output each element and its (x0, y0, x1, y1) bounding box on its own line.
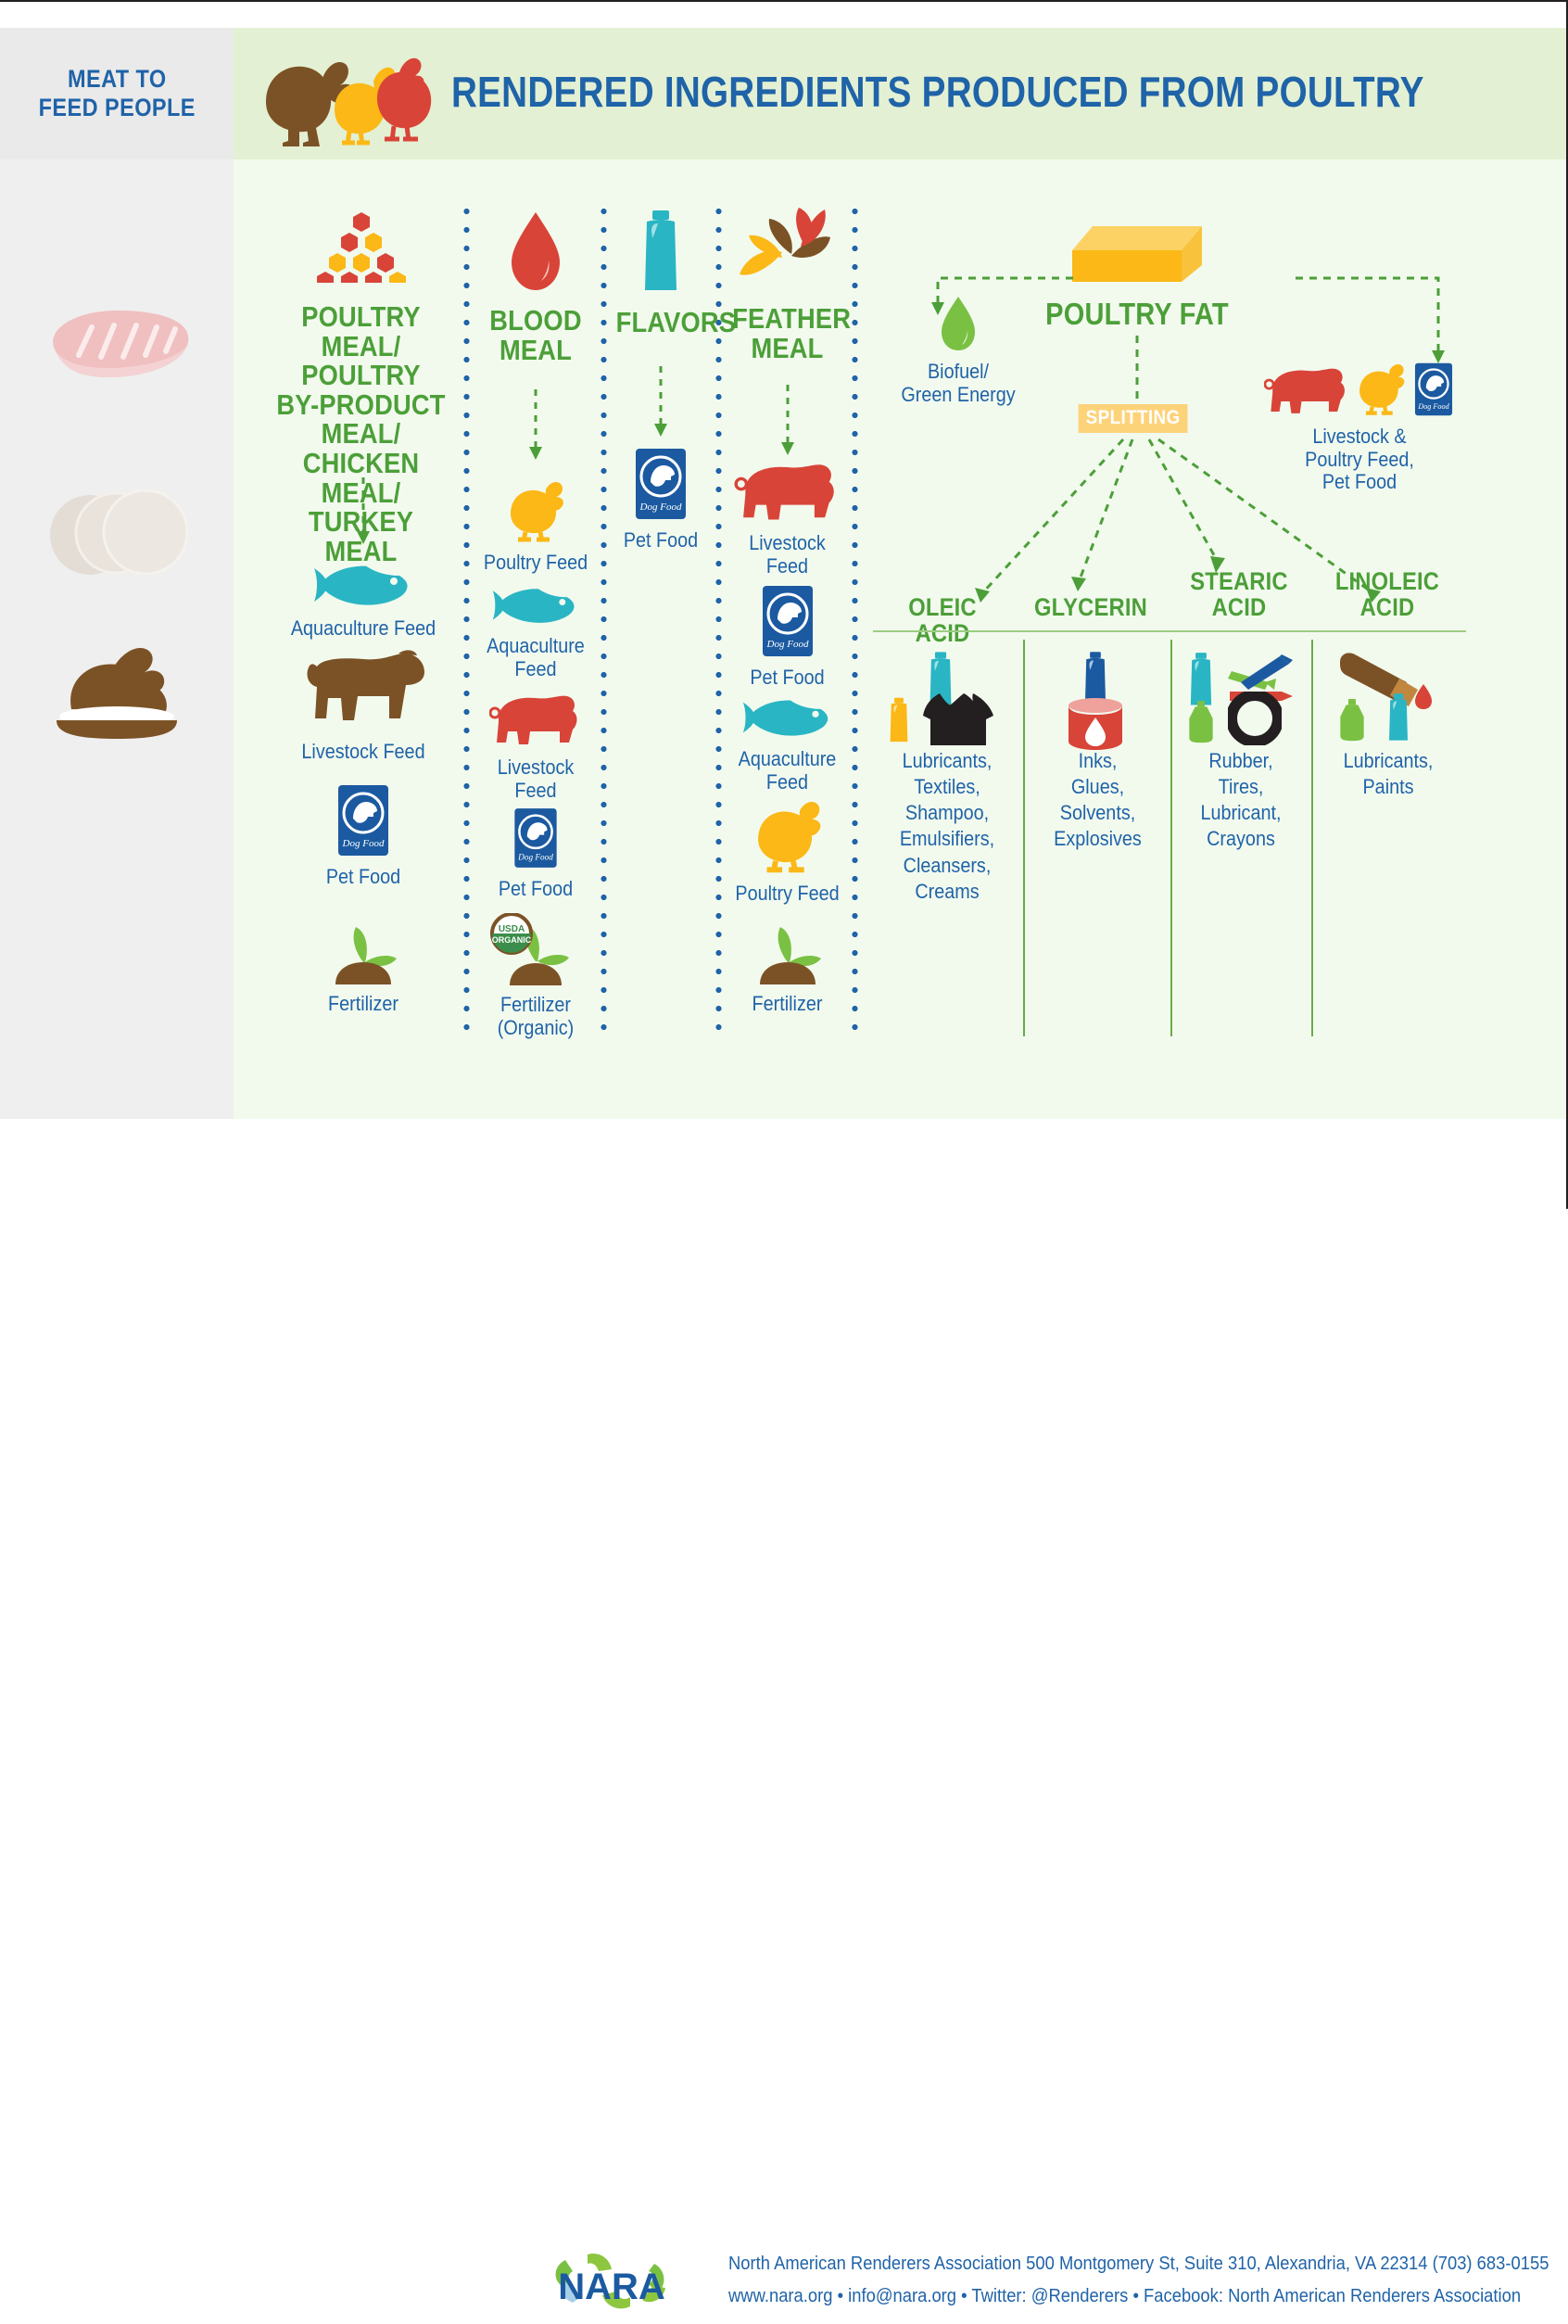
arrow-connector-poultry-meal (335, 477, 391, 552)
seedling-icon (271, 918, 456, 989)
heading-line: ACID (1322, 594, 1453, 620)
node-label: Poultry Feed (731, 883, 844, 906)
feathers-icon (725, 204, 850, 297)
nara-logo: NARA (545, 2245, 684, 2324)
label-text: Aquaculture Feed (731, 748, 844, 794)
product-line: Paints (1321, 774, 1455, 800)
column-divider-2 (601, 202, 607, 1036)
node-label: Livestock Feed (280, 741, 447, 764)
node-label: Livestock Feed (731, 532, 844, 578)
pig-icon (725, 459, 850, 528)
node-fertilizer-1: Fertilizer (271, 918, 456, 1016)
acid-cell-glycerin: Inks, Glues, Solvents, Explosives (1026, 651, 1170, 853)
label-text: Livestock Feed (731, 532, 844, 578)
product-line: Lubricants, (880, 748, 1014, 774)
product-line: Lubricants, (1321, 748, 1455, 774)
node-label: Aquaculture Feed (280, 617, 447, 641)
product-line: Solvents, (1033, 800, 1163, 826)
dog-food-bag-icon: Dog Food (271, 783, 456, 862)
acid-cell-oleic: Lubricants, Textiles, Shampoo, Emulsifie… (873, 651, 1021, 905)
stearic-icons (1172, 651, 1309, 748)
heading-line: ACID (1178, 594, 1300, 620)
textiles-icon (921, 688, 997, 752)
svg-text:USDA: USDA (499, 924, 525, 934)
fish-icon (271, 561, 456, 614)
dog-food-bag-icon: Dog Food (1412, 362, 1455, 422)
chicken-icon (476, 482, 595, 548)
title-line: POULTRY (273, 361, 449, 390)
node-label: Pet Food (280, 866, 447, 889)
svg-text:Dog Food: Dog Food (342, 838, 385, 849)
product-line: Textiles, (880, 774, 1014, 800)
node-label: Aquaculture Feed (731, 748, 844, 794)
header: RENDERED INGREDIENTS PRODUCED FROM POULT… (234, 28, 1568, 159)
seedling-icon (725, 918, 850, 989)
acid-products-stearic: Rubber, Tires, Lubricant, Crayons (1179, 748, 1302, 853)
green-drop-icon (875, 295, 1042, 357)
column-blood-meal: BLOOD MEAL (476, 209, 595, 364)
node-pet-food-2: Dog Food Pet Food (476, 806, 595, 901)
footer: NARA North American Renderers Associatio… (0, 1119, 1568, 1209)
sidebar-title-line2: FEED PEOPLE (38, 94, 195, 122)
acid-heading-oleic: OLEIC ACID (881, 594, 1004, 646)
title-line: POULTRY MEAL/ (273, 302, 449, 361)
node-label: Pet Food (615, 529, 707, 552)
usda-organic-seedling-icon: USDA ORGANIC (476, 913, 595, 990)
dog-food-bag-icon: Dog Food (610, 447, 712, 526)
acid-products-linoleic: Lubricants, Paints (1321, 748, 1455, 800)
acid-heading-glycerin: GLYCERIN (1030, 594, 1152, 620)
arrow-connector-feather-meal (760, 385, 816, 464)
bottle-teal-icon (610, 209, 712, 298)
sidebar-header: MEAT TO FEED PEOPLE (0, 28, 234, 159)
product-line: Rubber, (1179, 748, 1302, 774)
blood-drop-icon (476, 209, 595, 297)
title-line: BY-PRODUCT MEAL/ (273, 390, 449, 449)
label-text: Biofuel/ Green Energy (883, 361, 1033, 406)
column-divider-1 (463, 202, 470, 1036)
node-label: Fertilizer (280, 993, 447, 1016)
svg-text:ORGANIC: ORGANIC (492, 935, 532, 945)
node-biofuel-green-energy: Biofuel/ Green Energy (875, 295, 1042, 406)
node-livestock-feed-1: Livestock Feed (271, 644, 456, 764)
page-edge-top (0, 0, 1568, 2)
bottle-yellow-icon (884, 693, 914, 752)
sidebar: MEAT TO FEED PEOPLE (0, 28, 234, 1119)
svg-text:Dog Food: Dog Food (517, 852, 553, 861)
column-divider-4 (852, 202, 858, 1036)
column-feather-meal: FEATHER MEAL (725, 204, 850, 362)
acid-products-oleic: Lubricants, Textiles, Shampoo, Emulsifie… (880, 748, 1014, 905)
acid-divider-1 (1023, 640, 1025, 1036)
bottle-green-icon (1183, 699, 1219, 750)
footer-line-2: www.nara.org • info@nara.org • Twitter: … (728, 2280, 1385, 2313)
svg-text:Dog Food: Dog Food (639, 502, 682, 513)
product-line: Inks, (1033, 748, 1163, 774)
node-label: Poultry Feed (482, 552, 588, 575)
node-poultry-feed-2: Poultry Feed (476, 482, 595, 575)
pig-icon (476, 691, 595, 753)
ink-can-icon (1065, 697, 1126, 756)
acid-products-glycerin: Inks, Glues, Solvents, Explosives (1033, 748, 1163, 853)
node-label: Livestock Feed (482, 756, 588, 802)
category-title-blood-meal: BLOOD MEAL (484, 306, 588, 364)
svg-text:Dog Food: Dog Food (765, 639, 808, 650)
product-line: Creams (880, 879, 1014, 905)
heading-line: GLYCERIN (1030, 594, 1152, 620)
title-line: MEAL (484, 336, 588, 365)
acid-heading-stearic: STEARIC ACID (1178, 568, 1300, 620)
footer-contact: North American Renderers Association 500… (728, 2248, 1410, 2313)
main-panel: RENDERED INGREDIENTS PRODUCED FROM POULT… (234, 28, 1568, 1119)
oleic-icons (873, 651, 1021, 748)
bottle-teal-icon (1383, 692, 1414, 748)
node-pet-food-4: Dog Food Pet Food (725, 584, 850, 690)
tire-icon (1228, 692, 1282, 750)
footer-line-1: North American Renderers Association 500… (728, 2248, 1410, 2280)
steak-icon (0, 301, 234, 389)
product-line: Crayons (1179, 826, 1302, 852)
sidebar-title: MEAT TO FEED PEOPLE (38, 65, 195, 123)
node-label: Pet Food (482, 878, 588, 901)
roast-chicken-icon (0, 635, 234, 760)
node-label: Fertilizer (731, 993, 844, 1016)
label-text: Livestock Feed (482, 756, 588, 802)
pellets-icon (261, 209, 461, 287)
product-line: Tires, (1179, 774, 1302, 800)
node-livestock-feed-4: Livestock Feed (725, 459, 850, 578)
node-aquaculture-feed-1: Aquaculture Feed (271, 561, 456, 641)
product-line: Lubricant, (1179, 800, 1302, 826)
page-title: RENDERED INGREDIENTS PRODUCED FROM POULT… (451, 67, 1378, 117)
node-livestock-feed-2: Livestock Feed (476, 691, 595, 802)
label-text: Fertilizer (Organic) (482, 994, 588, 1039)
node-pet-food-3: Dog Food Pet Food (610, 447, 712, 552)
acid-cell-stearic: Rubber, Tires, Lubricant, Crayons (1172, 651, 1309, 853)
cow-icon (271, 644, 456, 737)
node-fertilizer-4: Fertilizer (725, 918, 850, 1016)
svg-text:Dog Food: Dog Food (1417, 402, 1449, 411)
node-aquaculture-feed-4: Aquaculture Feed (725, 695, 850, 794)
node-label: Aquaculture Feed (482, 635, 588, 680)
product-line: Emulsifiers, (880, 826, 1014, 852)
header-birds (257, 54, 442, 151)
acid-divider-3 (1311, 640, 1313, 1036)
title-line: BLOOD (484, 306, 588, 336)
node-label: Biofuel/ Green Energy (883, 361, 1033, 406)
acid-heading-linoleic: LINOLEIC ACID (1322, 568, 1453, 620)
dog-food-bag-icon: Dog Food (476, 806, 595, 874)
category-title-flavors: FLAVORS (616, 308, 706, 337)
heading-line: OLEIC ACID (881, 594, 1004, 646)
title-line: FLAVORS (616, 308, 706, 337)
column-flavors: FLAVORS (610, 209, 712, 337)
chicken-icon (725, 802, 850, 879)
glycerin-icons (1026, 651, 1170, 748)
label-text: Aquaculture Feed (482, 635, 588, 680)
title-line: FEATHER (732, 304, 842, 334)
heading-line: STEARIC (1178, 568, 1300, 594)
node-label: Fertilizer (Organic) (482, 994, 588, 1039)
acid-table-rule (873, 630, 1466, 632)
deli-slices-icon (0, 482, 234, 589)
sidebar-title-line1: MEAT TO (38, 65, 195, 94)
bottle-green-icon (1334, 697, 1370, 748)
acid-cell-linoleic: Lubricants, Paints (1314, 651, 1462, 800)
node-pet-food-1: Dog Food Pet Food (271, 783, 456, 889)
category-title-feather-meal: FEATHER MEAL (732, 304, 842, 362)
arrow-connector-blood-meal (508, 389, 563, 468)
linoleic-icons (1314, 651, 1462, 748)
poultry-fat-splitting-connector (1109, 336, 1165, 412)
infographic-page: MEAT TO FEED PEOPLE (0, 0, 1568, 1209)
fish-icon (476, 584, 595, 631)
splitting-badge: SPLITTING (1079, 404, 1188, 433)
fish-icon (725, 695, 850, 744)
pig-icon (1264, 363, 1349, 422)
product-line: Glues, (1033, 774, 1163, 800)
product-line: Shampoo, (880, 800, 1014, 826)
node-fertilizer-organic-2: USDA ORGANIC Fertilizer (Organic) (476, 913, 595, 1039)
title-line: MEAL (732, 334, 842, 363)
chicken-icon (1355, 363, 1407, 422)
product-line: Explosives (1033, 826, 1163, 852)
arrow-connector-flavors (633, 366, 689, 445)
node-label: Pet Food (731, 667, 844, 690)
node-aquaculture-feed-2: Aquaculture Feed (476, 584, 595, 680)
dog-food-bag-icon: Dog Food (725, 584, 850, 663)
nara-logo-text: NARA (558, 2267, 665, 2307)
heading-line: LINOLEIC (1322, 568, 1453, 594)
node-poultry-feed-4: Poultry Feed (725, 802, 850, 906)
product-line: Cleansers, (880, 853, 1014, 879)
right-branch-icons: Dog Food (1225, 362, 1494, 422)
